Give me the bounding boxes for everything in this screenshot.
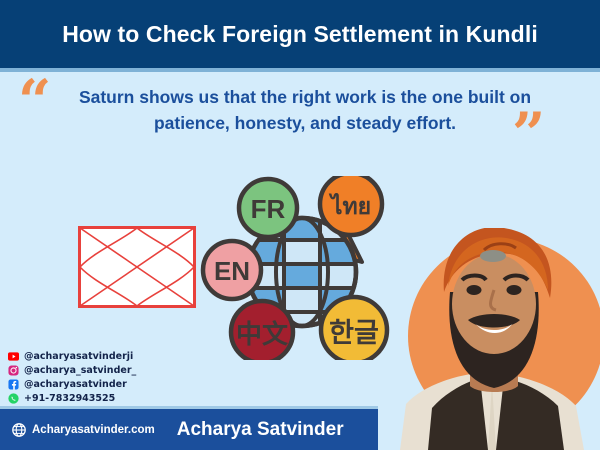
whatsapp-icon[interactable] bbox=[8, 393, 19, 404]
language-bubble-en-label: EN bbox=[214, 256, 250, 286]
turban-knot bbox=[480, 250, 506, 262]
language-bubble-th: ไทย bbox=[320, 176, 382, 235]
brand-name: Acharya Satvinder bbox=[177, 419, 344, 441]
face bbox=[452, 254, 536, 354]
language-bubble-th-label: ไทย bbox=[328, 192, 371, 220]
social-handle-youtube: @acharyasatvinderji bbox=[24, 351, 133, 362]
language-bubble-ko: 한글 bbox=[321, 297, 387, 360]
header-bar: How to Check Foreign Settlement in Kundl… bbox=[0, 0, 600, 68]
quote-open-icon: “ bbox=[18, 72, 51, 130]
quote-line-1: Saturn shows us that the right work is t… bbox=[70, 84, 540, 110]
social-list: @acharyasatvinderji @acharya_satvinder_ … bbox=[8, 350, 188, 405]
quote-block: Saturn shows us that the right work is t… bbox=[0, 72, 600, 164]
eye-right bbox=[507, 285, 522, 295]
language-bubble-zh-label: 中文 bbox=[236, 319, 289, 350]
social-phone-whatsapp: +91-7832943525 bbox=[24, 393, 115, 404]
website-link[interactable]: Acharyasatvinder.com bbox=[12, 423, 155, 437]
social-row-whatsapp[interactable]: +91-7832943525 bbox=[8, 392, 188, 405]
facebook-icon[interactable] bbox=[8, 379, 19, 390]
youtube-icon[interactable] bbox=[8, 351, 19, 362]
globe-icon bbox=[12, 423, 26, 437]
language-globe-graphic: FR ไทย EN 中文 한글 bbox=[196, 176, 408, 360]
page-title: How to Check Foreign Settlement in Kundl… bbox=[62, 21, 538, 48]
language-bubble-fr: FR bbox=[239, 179, 297, 237]
language-bubble-fr-label: FR bbox=[251, 194, 286, 224]
social-row-instagram[interactable]: @acharya_satvinder_ bbox=[8, 364, 188, 377]
social-handle-instagram: @acharya_satvinder_ bbox=[24, 365, 136, 376]
language-bubble-ko-label: 한글 bbox=[329, 318, 379, 349]
language-bubble-en: EN bbox=[203, 241, 261, 299]
language-bubble-zh: 中文 bbox=[231, 301, 293, 360]
quote-close-icon: ” bbox=[512, 105, 545, 163]
instagram-icon[interactable] bbox=[8, 365, 19, 376]
social-row-youtube[interactable]: @acharyasatvinderji bbox=[8, 350, 188, 363]
website-text: Acharyasatvinder.com bbox=[32, 424, 155, 436]
footer-bar: Acharyasatvinder.com Acharya Satvinder bbox=[0, 409, 378, 450]
eye-left bbox=[467, 285, 482, 295]
kundli-chart-diagram bbox=[78, 226, 196, 308]
poster-canvas: How to Check Foreign Settlement in Kundl… bbox=[0, 0, 600, 450]
social-handle-facebook: @acharyasatvinder bbox=[24, 379, 127, 390]
social-row-facebook[interactable]: @acharyasatvinder bbox=[8, 378, 188, 391]
quote-line-2: patience, honesty, and steady effort. bbox=[70, 110, 540, 136]
avatar bbox=[392, 228, 600, 450]
quote-text: Saturn shows us that the right work is t… bbox=[70, 84, 540, 137]
